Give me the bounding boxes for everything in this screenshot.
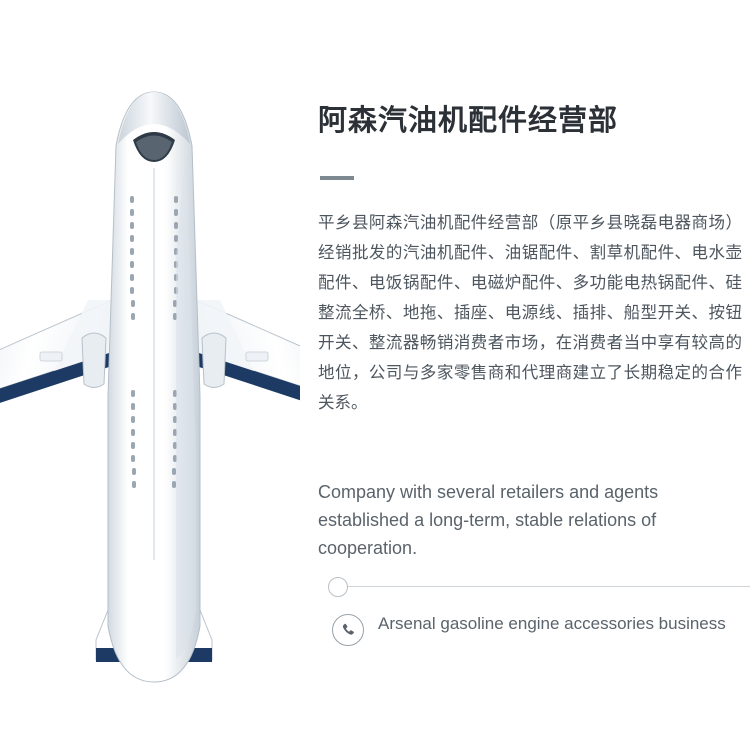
content-column: 阿森汽油机配件经营部 平乡县阿森汽油机配件经营部（原平乡县晓磊电器商场）经销批发… bbox=[318, 0, 750, 738]
divider-circle bbox=[328, 577, 348, 597]
section-divider bbox=[318, 577, 750, 597]
company-description-cn: 平乡县阿森汽油机配件经营部（原平乡县晓磊电器商场）经销批发的汽油机配件、油锯配件… bbox=[318, 208, 742, 418]
divider-line bbox=[346, 586, 750, 587]
company-description-en: Company with several retailers and agent… bbox=[318, 478, 730, 562]
airplane-illustration bbox=[0, 0, 300, 738]
phone-icon bbox=[332, 614, 364, 646]
footer-tagline-text: Arsenal gasoline engine accessories busi… bbox=[378, 612, 746, 636]
page-title: 阿森汽油机配件经营部 bbox=[318, 104, 618, 138]
title-underline-rule bbox=[320, 176, 354, 180]
footer-tagline-block: Arsenal gasoline engine accessories busi… bbox=[332, 612, 750, 646]
poster-page: 阿森汽油机配件经营部 平乡县阿森汽油机配件经营部（原平乡县晓磊电器商场）经销批发… bbox=[0, 0, 750, 738]
plane-fuselage bbox=[108, 92, 200, 682]
